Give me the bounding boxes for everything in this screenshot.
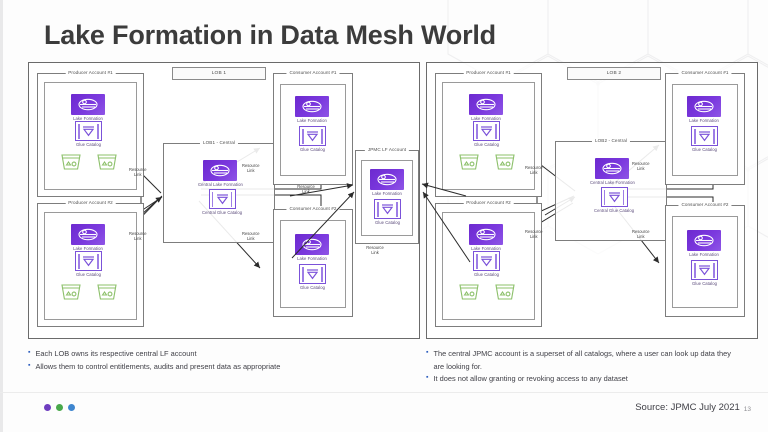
bullets-right: ▪ The central JPMC account is a superset…: [426, 348, 733, 386]
right-producer-account-2-label: Producer Account #2: [463, 200, 514, 205]
right-consumer-1-gc-caption: Glue Catalog: [692, 147, 717, 152]
jpmc-glue-catalog[interactable]: Glue Catalog: [374, 199, 401, 225]
right-resource-link-2: ResourceLink: [525, 229, 543, 239]
right-resource-link-1: ResourceLink: [525, 165, 543, 175]
jpmc-lake-formation[interactable]: Lake Formation: [370, 169, 404, 196]
right-consumer-account-1-label: Consumer Account #1: [678, 70, 731, 75]
right-diagram-frame: LOB 2 Producer Account #1 Lake Formation…: [426, 62, 758, 339]
glue-catalog-icon: [75, 251, 102, 271]
bullet-item: ▪ Allows them to control entitlements, a…: [28, 361, 280, 374]
lake-formation-icon: [370, 169, 404, 190]
right-central-lake-formation[interactable]: Central Lake Formation: [590, 158, 635, 185]
bullet-marker: ▪: [426, 373, 428, 383]
right-producer-account-1: Producer Account #1 Lake Formation Glue …: [435, 73, 542, 197]
right-producer-2-glue-catalog[interactable]: Glue Catalog: [473, 251, 500, 277]
accent-dot-green: [56, 404, 63, 411]
source-text: Source: JPMC July 2021: [635, 402, 740, 413]
right-central-box-label: LOB2 - Central: [592, 138, 630, 143]
bullet-text: The central JPMC account is a superset o…: [433, 348, 733, 373]
lake-formation-icon: [595, 158, 629, 179]
s3-bucket-icon: [96, 282, 118, 301]
glue-catalog-icon: [691, 260, 718, 280]
glue-catalog-icon: [691, 126, 718, 146]
left-consumer-2-lake-formation[interactable]: Lake Formation: [295, 234, 329, 261]
bullet-marker: ▪: [426, 348, 428, 358]
right-producer-1-bucket-1[interactable]: [458, 152, 480, 171]
accent-dot-purple: [44, 404, 51, 411]
left-consumer-account-1-label: Consumer Account #1: [286, 70, 339, 75]
left-resource-link-4: ResourceLink: [242, 231, 260, 241]
bullet-marker: ▪: [28, 361, 30, 371]
left-resource-link-1: ResourceLink: [129, 167, 147, 177]
left-consumer-1-glue-catalog[interactable]: Glue Catalog: [299, 126, 326, 152]
jpmc-lf-account-label: JPMC LF Account: [365, 147, 409, 152]
s3-bucket-icon: [60, 282, 82, 301]
s3-bucket-icon: [494, 152, 516, 171]
right-central-glue-catalog[interactable]: Central Glue Catalog: [594, 187, 634, 213]
left-resource-link-2: ResourceLink: [129, 231, 147, 241]
s3-bucket-icon: [60, 152, 82, 171]
left-producer-account-1-label: Producer Account #1: [65, 70, 116, 75]
right-producer-2-bucket-2[interactable]: [494, 282, 516, 301]
right-producer-1-bucket-2[interactable]: [494, 152, 516, 171]
left-consumer-1-gc-caption: Glue Catalog: [300, 147, 325, 152]
left-consumer-account-2-label: Consumer Account #2: [286, 206, 339, 211]
left-producer-2-glue-catalog[interactable]: Glue Catalog: [75, 251, 102, 277]
glue-catalog-icon: [209, 189, 236, 209]
lake-formation-icon: [469, 94, 503, 115]
lake-formation-icon: [687, 230, 721, 251]
page-number: 13: [744, 406, 751, 413]
jpmc-lf-caption: Lake Formation: [372, 191, 402, 196]
lake-formation-icon: [295, 96, 329, 117]
left-central-glue-catalog[interactable]: Central Glue Catalog: [202, 189, 242, 215]
page-title: Lake Formation in Data Mesh World: [44, 20, 496, 51]
right-lob-tab: LOB 2: [567, 67, 661, 80]
left-consumer-account-2: Consumer Account #2 Lake Formation Glue …: [273, 209, 353, 317]
left-central-lf-caption: Central Lake Formation: [198, 182, 243, 187]
left-edge-bar: [0, 0, 3, 432]
left-consumer-1-lake-formation[interactable]: Lake Formation: [295, 96, 329, 123]
lake-formation-icon: [71, 224, 105, 245]
s3-bucket-icon: [494, 282, 516, 301]
right-resource-link-4: ResourceLink: [632, 229, 650, 239]
glue-catalog-icon: [473, 251, 500, 271]
left-producer-account-2-label: Producer Account #2: [65, 200, 116, 205]
lake-formation-icon: [203, 160, 237, 181]
right-producer-2-bucket-1[interactable]: [458, 282, 480, 301]
jpmc-gc-caption: Glue Catalog: [375, 220, 400, 225]
left-producer-1-glue-catalog[interactable]: Glue Catalog: [75, 121, 102, 147]
slide-canvas: Lake Formation in Data Mesh World: [0, 0, 768, 432]
right-consumer-2-gc-caption: Glue Catalog: [692, 281, 717, 286]
left-central-gc-caption: Central Glue Catalog: [202, 210, 242, 215]
right-central-lf-caption: Central Lake Formation: [590, 180, 635, 185]
left-central-box: LOB1 - Central Central Lake Formation Ce…: [163, 143, 275, 243]
right-producer-account-2: Producer Account #2 Lake Formation Glue …: [435, 203, 542, 327]
left-resource-link-3: ResourceLink: [242, 163, 260, 173]
left-producer-1-bucket-1[interactable]: [60, 152, 82, 171]
right-producer-2-lake-formation[interactable]: Lake Formation: [469, 224, 503, 251]
bullet-text: Allows them to control entitlements, aud…: [35, 361, 280, 374]
left-central-lake-formation[interactable]: Central Lake Formation: [198, 160, 243, 187]
accent-dot-blue: [68, 404, 75, 411]
bullet-marker: ▪: [28, 348, 30, 358]
right-consumer-2-lake-formation[interactable]: Lake Formation: [687, 230, 721, 257]
s3-bucket-icon: [458, 282, 480, 301]
glue-catalog-icon: [75, 121, 102, 141]
s3-bucket-icon: [96, 152, 118, 171]
lake-formation-icon: [469, 224, 503, 245]
lake-formation-icon: [295, 234, 329, 255]
left-consumer-2-lf-caption: Lake Formation: [297, 256, 327, 261]
right-consumer-2-lf-caption: Lake Formation: [689, 252, 719, 257]
left-producer-1-gc-caption: Glue Catalog: [76, 142, 101, 147]
right-producer-1-gc-caption: Glue Catalog: [474, 142, 499, 147]
left-consumer-1-lf-caption: Lake Formation: [297, 118, 327, 123]
right-consumer-account-2-label: Consumer Account #2: [678, 202, 731, 207]
glue-catalog-icon: [299, 126, 326, 146]
right-producer-1-lake-formation[interactable]: Lake Formation: [469, 94, 503, 121]
glue-catalog-icon: [374, 199, 401, 219]
s3-bucket-icon: [458, 152, 480, 171]
bullet-item: ▪ The central JPMC account is a superset…: [426, 348, 733, 373]
footer-divider: [0, 392, 768, 393]
right-central-gc-caption: Central Glue Catalog: [594, 208, 634, 213]
right-consumer-1-lake-formation[interactable]: Lake Formation: [687, 96, 721, 123]
left-consumer-2-gc-caption: Glue Catalog: [300, 285, 325, 290]
bullet-item: ▪ Each LOB owns its respective central L…: [28, 348, 280, 361]
right-consumer-1-glue-catalog[interactable]: Glue Catalog: [691, 126, 718, 152]
left-central-box-label: LOB1 - Central: [200, 140, 238, 145]
left-producer-2-gc-caption: Glue Catalog: [76, 272, 101, 277]
left-producer-account-2: Producer Account #2 Lake Formation Glue …: [37, 203, 144, 327]
right-consumer-account-2: Consumer Account #2 Lake Formation Glue …: [665, 205, 745, 317]
right-resource-link-3: ResourceLink: [632, 161, 650, 171]
glue-catalog-icon: [299, 264, 326, 284]
glue-catalog-icon: [473, 121, 500, 141]
left-consumer-2-glue-catalog[interactable]: Glue Catalog: [299, 264, 326, 290]
right-consumer-account-1: Consumer Account #1 Lake Formation Glue …: [665, 73, 745, 185]
right-consumer-2-glue-catalog[interactable]: Glue Catalog: [691, 260, 718, 286]
left-producer-1-bucket-2[interactable]: [96, 152, 118, 171]
left-producer-1-lake-formation[interactable]: Lake Formation: [71, 94, 105, 121]
left-lob-tab: LOB 1: [172, 67, 266, 80]
right-producer-1-glue-catalog[interactable]: Glue Catalog: [473, 121, 500, 147]
left-producer-2-bucket-2[interactable]: [96, 282, 118, 301]
left-producer-2-lake-formation[interactable]: Lake Formation: [71, 224, 105, 251]
right-producer-account-1-label: Producer Account #1: [463, 70, 514, 75]
left-consumer-account-1: Consumer Account #1 Lake Formation Glue …: [273, 73, 353, 185]
bullet-text: It does not allow granting or revoking a…: [433, 373, 627, 386]
left-producer-2-bucket-1[interactable]: [60, 282, 82, 301]
right-central-box: LOB2 - Central Central Lake Formation Ce…: [555, 141, 667, 241]
glue-catalog-icon: [601, 187, 628, 207]
bullet-text: Each LOB owns its respective central LF …: [35, 348, 196, 361]
right-consumer-1-lf-caption: Lake Formation: [689, 118, 719, 123]
left-producer-account-1: Producer Account #1 Lake Formation Glue …: [37, 73, 144, 197]
right-producer-2-gc-caption: Glue Catalog: [474, 272, 499, 277]
lake-formation-icon: [71, 94, 105, 115]
footer-source: Source: JPMC July 2021 13: [635, 402, 751, 413]
lake-formation-icon: [687, 96, 721, 117]
footer-accent-dots: [44, 404, 75, 411]
jpmc-lf-account: JPMC LF Account Lake Formation Glue Cata…: [355, 150, 419, 244]
bullet-item: ▪ It does not allow granting or revoking…: [426, 373, 733, 386]
bullets-left: ▪ Each LOB owns its respective central L…: [28, 348, 280, 373]
